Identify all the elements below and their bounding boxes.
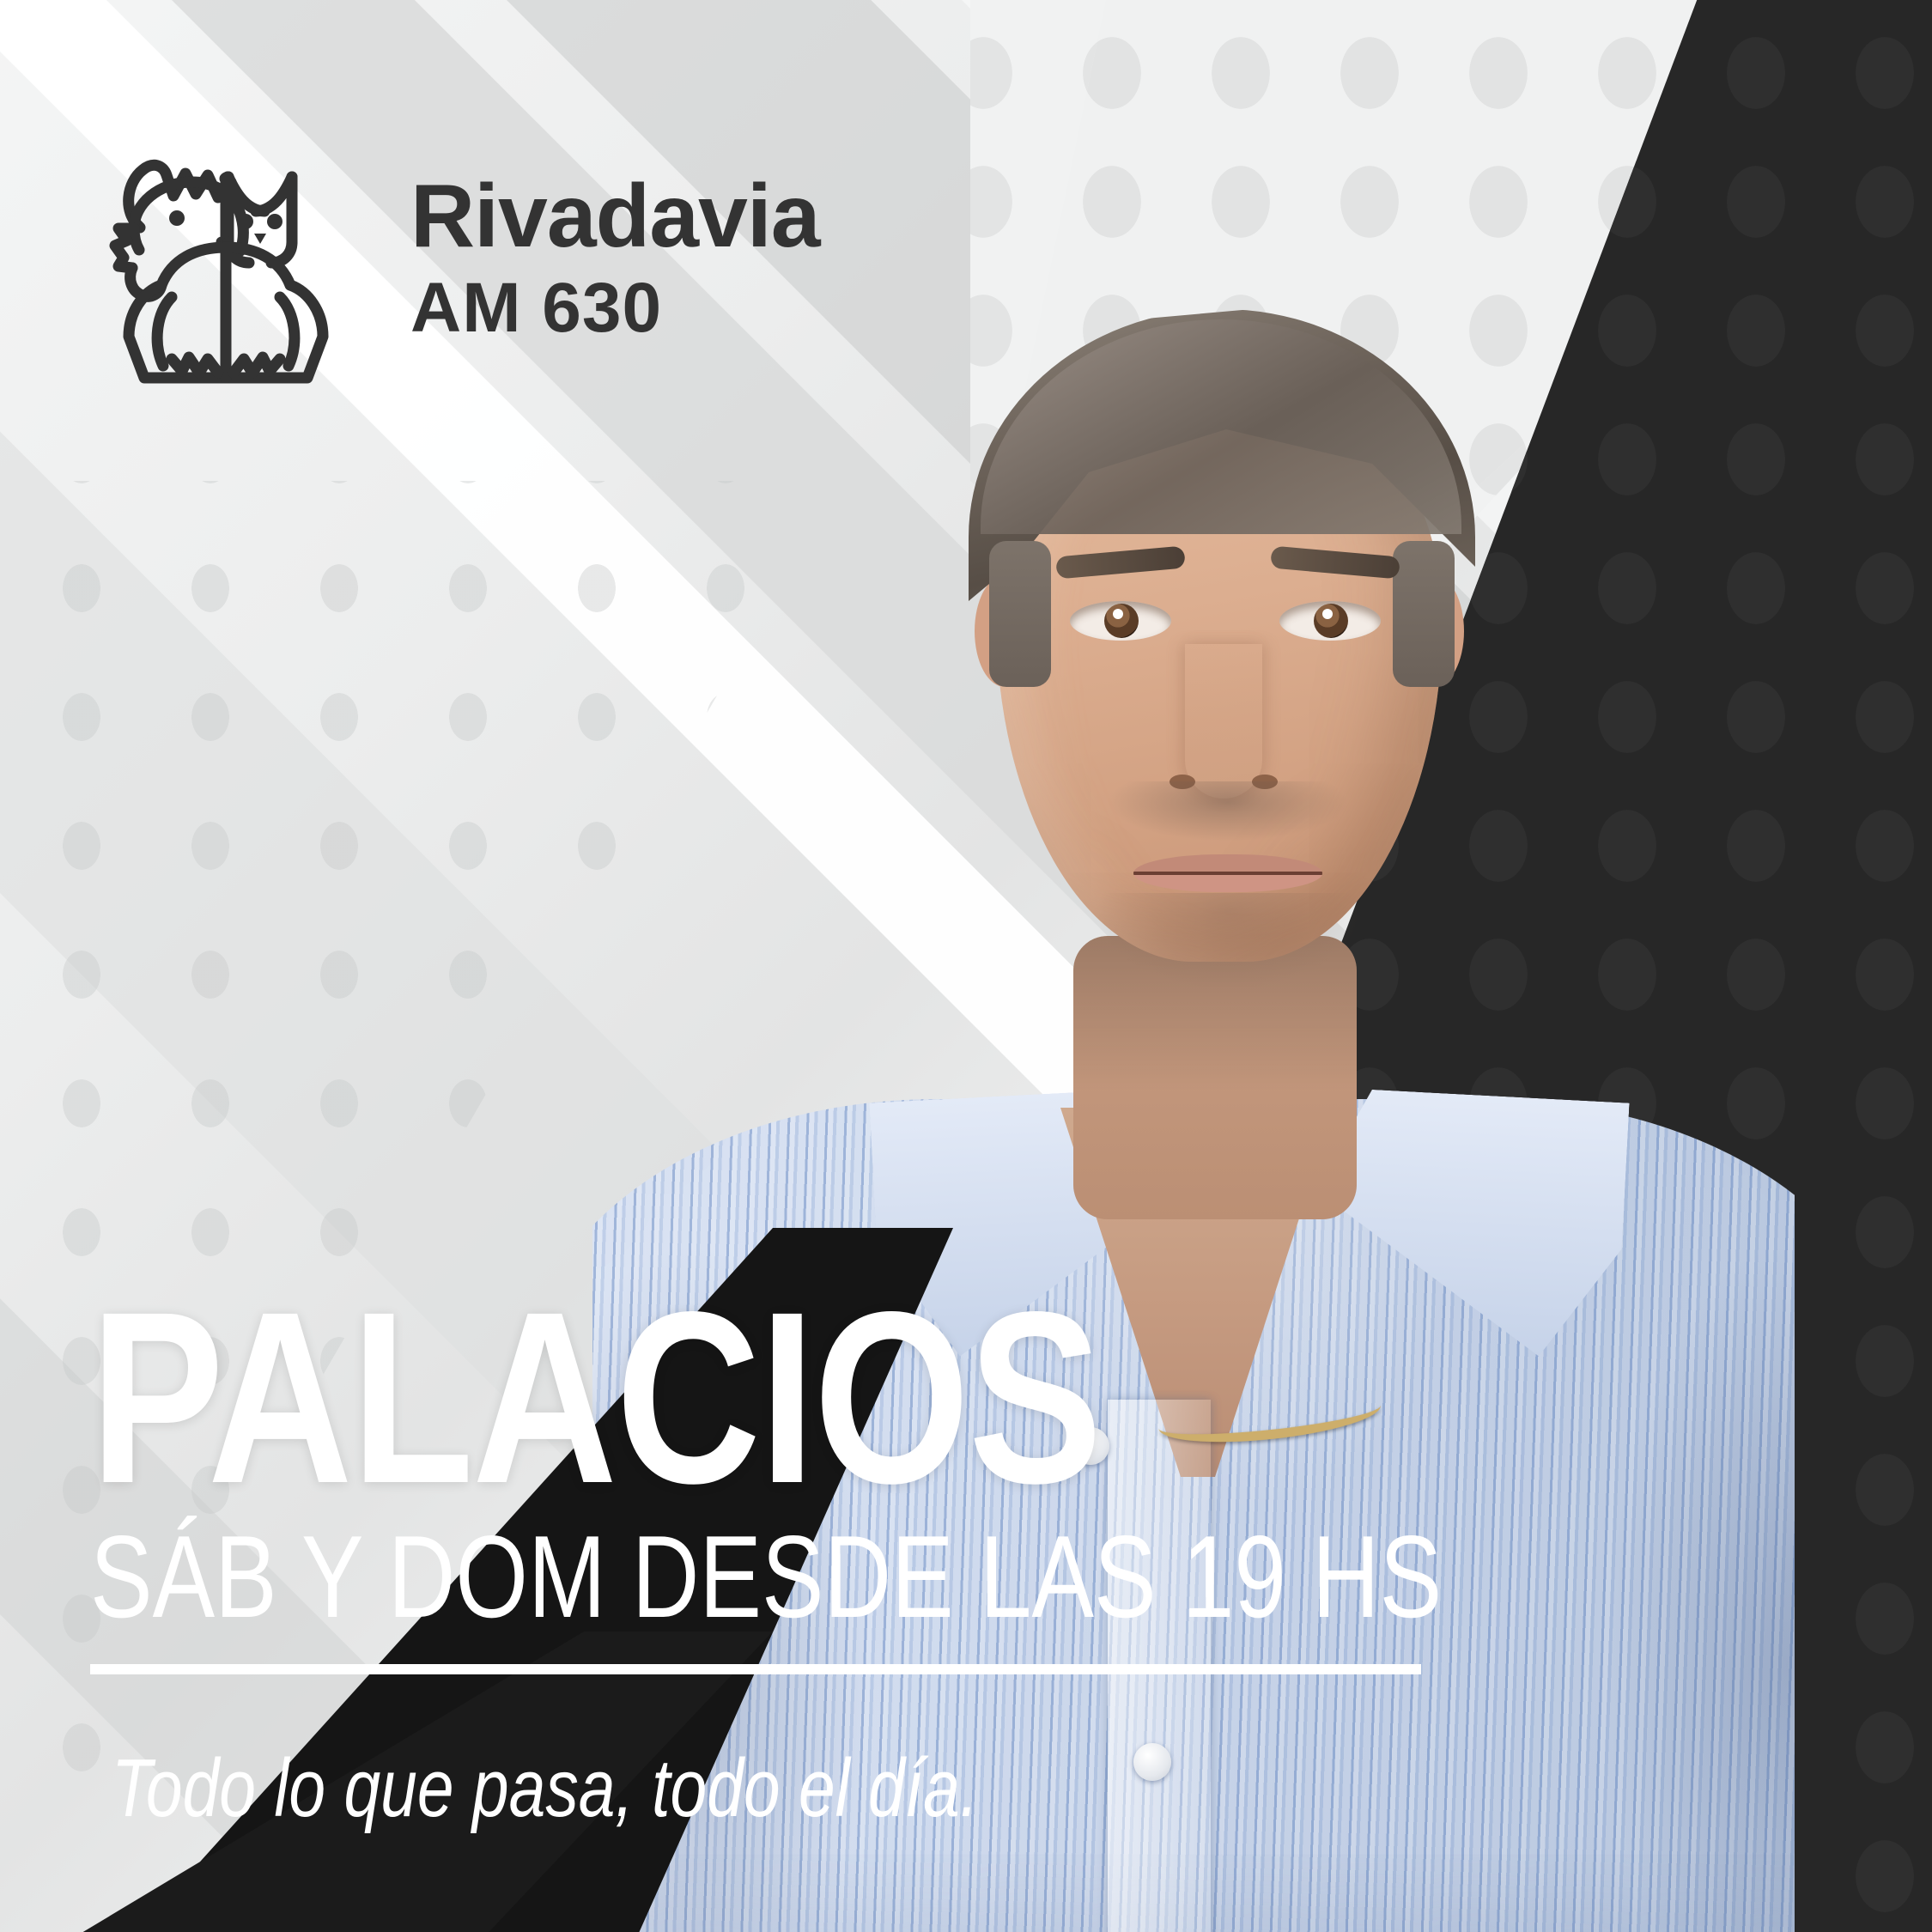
eye-right xyxy=(1279,601,1381,641)
station-frequency: AM 630 xyxy=(410,273,820,343)
eye-left xyxy=(1070,601,1171,641)
station-name: Rivadavia xyxy=(410,172,820,261)
rooster-owl-logo-icon xyxy=(93,129,359,386)
radio-show-promo-poster: Rivadavia AM 630 PALACIOS SÁB Y DOM DESD… xyxy=(0,0,1932,1932)
station-logo[interactable]: Rivadavia AM 630 xyxy=(93,129,820,386)
nose xyxy=(1185,644,1262,799)
mouth xyxy=(1133,854,1322,892)
show-title-block: PALACIOS SÁB Y DOM DESDE LAS 19 HS xyxy=(90,1298,1722,1674)
iris-right xyxy=(1314,604,1348,638)
show-title: PALACIOS xyxy=(90,1298,1428,1499)
eye-highlight-left xyxy=(1113,609,1123,619)
station-tagline: Todo lo que pasa, todo el día. xyxy=(112,1741,978,1836)
sideburn-left xyxy=(989,541,1051,687)
iris-left xyxy=(1104,604,1139,638)
show-schedule: SÁB Y DOM DESDE LAS 19 HS xyxy=(90,1518,1395,1635)
sideburn-right xyxy=(1393,541,1455,687)
hair-highlight xyxy=(981,319,1461,534)
divider-rule xyxy=(90,1664,1421,1674)
shirt-button xyxy=(1133,1743,1171,1781)
stubble-shadow xyxy=(1108,781,1348,841)
chin-shadow xyxy=(1099,893,1357,987)
eye-highlight-right xyxy=(1322,609,1333,619)
station-logo-text: Rivadavia AM 630 xyxy=(410,172,820,343)
